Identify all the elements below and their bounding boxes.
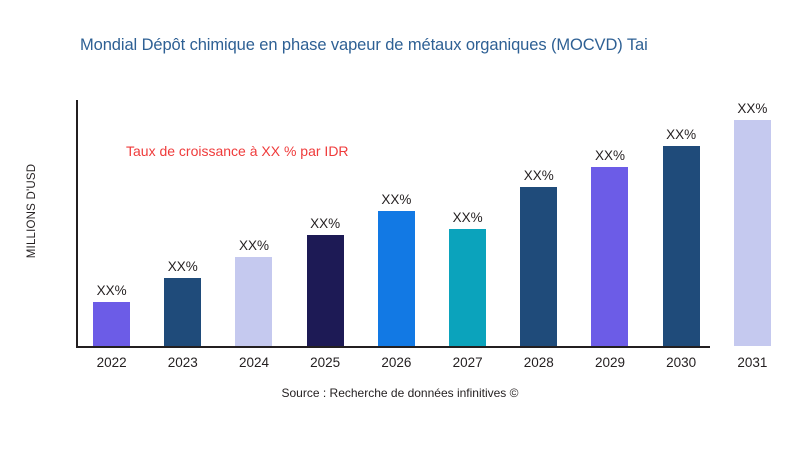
bar-value-label: XX%: [428, 210, 508, 225]
bar-value-label: XX%: [214, 238, 294, 253]
bar-value-label: XX%: [72, 283, 152, 298]
x-axis-tick-label: 2026: [361, 355, 432, 370]
x-axis-tick-label: 2024: [218, 355, 289, 370]
bar-slot: XX%: [717, 100, 788, 346]
bar-series: XX%XX%XX%XX%XX%XX%XX%XX%XX%XX%: [76, 100, 788, 346]
bar[interactable]: [307, 235, 344, 346]
x-axis-tick-label: 2022: [76, 355, 147, 370]
x-axis-tick-label: 2029: [574, 355, 645, 370]
bar-value-label: XX%: [356, 192, 436, 207]
bar[interactable]: [520, 187, 557, 346]
x-axis-line: [76, 346, 710, 348]
bar-value-label: XX%: [570, 148, 650, 163]
bar-value-label: XX%: [499, 168, 579, 183]
bar-slot: XX%: [646, 100, 717, 346]
x-axis-tick-labels: 2022202320242025202620272028202920302031: [76, 355, 788, 377]
bar-slot: XX%: [432, 100, 503, 346]
bar-value-label: XX%: [712, 101, 792, 116]
bar-slot: XX%: [574, 100, 645, 346]
y-axis-label: MILLIONS D'USD: [26, 111, 38, 311]
x-axis-tick-label: 2027: [432, 355, 503, 370]
x-axis-tick-label: 2031: [717, 355, 788, 370]
x-axis-tick-label: 2030: [646, 355, 717, 370]
bar-slot: XX%: [147, 100, 218, 346]
bar[interactable]: [164, 278, 201, 346]
bar-slot: XX%: [361, 100, 432, 346]
bar[interactable]: [734, 120, 771, 346]
page-title: Mondial Dépôt chimique en phase vapeur d…: [80, 36, 800, 55]
bar-value-label: XX%: [143, 259, 223, 274]
bar[interactable]: [591, 167, 628, 346]
x-axis-tick-label: 2025: [290, 355, 361, 370]
chart-canvas: Mondial Dépôt chimique en phase vapeur d…: [0, 0, 800, 450]
bar[interactable]: [378, 211, 415, 346]
plot-area: Taux de croissance à XX % par IDR XX%XX%…: [76, 100, 788, 348]
bar-slot: XX%: [218, 100, 289, 346]
bar-value-label: XX%: [641, 127, 721, 142]
x-axis-tick-label: 2023: [147, 355, 218, 370]
bar[interactable]: [449, 229, 486, 346]
bar-slot: XX%: [503, 100, 574, 346]
bar[interactable]: [93, 302, 130, 346]
bar[interactable]: [663, 146, 700, 346]
bar-slot: XX%: [290, 100, 361, 346]
bar-value-label: XX%: [285, 216, 365, 231]
x-axis-tick-label: 2028: [503, 355, 574, 370]
bar[interactable]: [235, 257, 272, 346]
bar-slot: XX%: [76, 100, 147, 346]
source-caption: Source : Recherche de données infinitive…: [0, 386, 800, 400]
